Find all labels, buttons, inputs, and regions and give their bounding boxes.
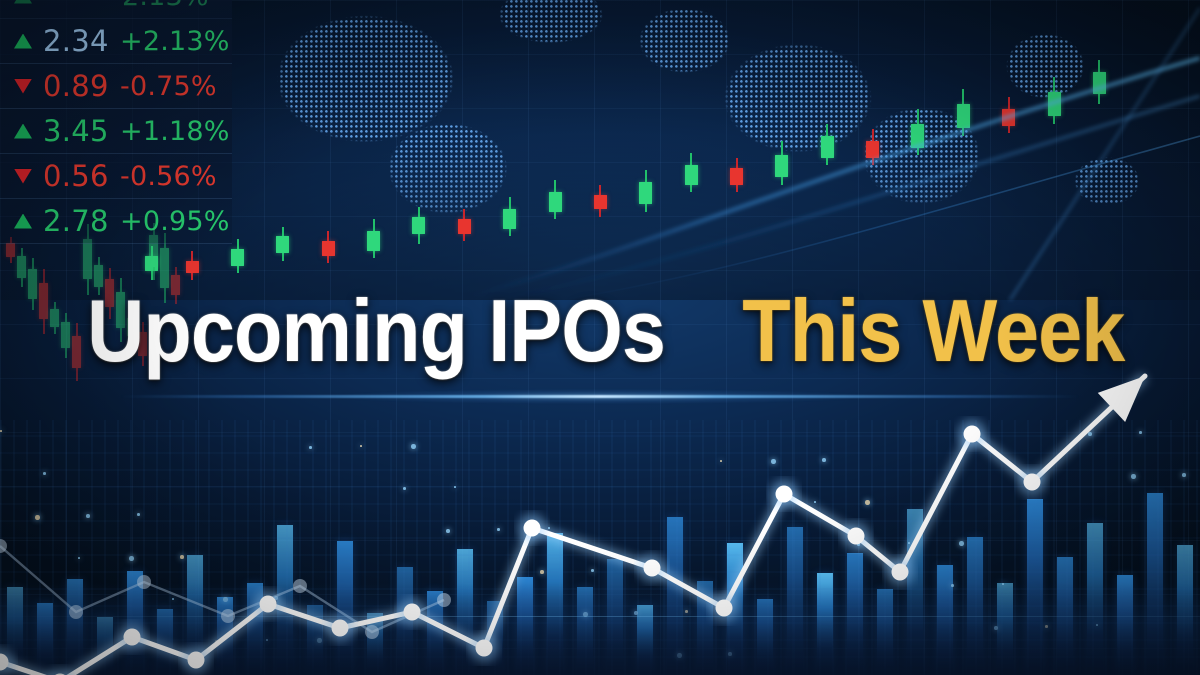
trend-node	[188, 652, 205, 669]
ticker-row: 3.45+1.18%	[0, 109, 232, 154]
trend-node	[964, 426, 981, 443]
ipo-banner: 2.13%2.34+2.13%0.89-0.75%3.45+1.18%0.56-…	[0, 0, 1200, 675]
ticker-percent: +2.13%	[120, 26, 230, 57]
trend-node	[124, 629, 141, 646]
secondary-line-node	[69, 605, 83, 619]
ticker-row: 0.89-0.75%	[0, 64, 232, 109]
headline-glow-divider	[120, 395, 1080, 398]
triangle-up-icon	[14, 34, 32, 49]
secondary-line-node	[293, 579, 307, 593]
trend-node	[716, 600, 733, 617]
ticker-value: 3.45	[43, 114, 109, 148]
trend-node	[332, 620, 349, 637]
trend-node	[644, 560, 661, 577]
trend-node	[776, 486, 793, 503]
triangle-down-icon	[14, 79, 32, 94]
triangle-up-icon	[14, 124, 32, 139]
trend-node	[848, 528, 865, 545]
triangle-up-icon	[14, 0, 32, 4]
ticker-percent: +1.18%	[120, 116, 230, 147]
ticker-value: 2.78	[43, 204, 109, 238]
headline-space	[698, 286, 719, 376]
ticker-percent: 2.13%	[122, 0, 209, 12]
ticker-percent: +0.95%	[120, 206, 230, 237]
trend-node	[476, 640, 493, 657]
secondary-line-node	[137, 575, 151, 589]
headline-white-part: Upcoming IPOs	[87, 286, 665, 376]
trend-node	[524, 520, 541, 537]
trend-node	[1024, 474, 1041, 491]
ticker-value: 0.89	[43, 69, 109, 103]
ticker-value: 0.56	[43, 159, 109, 193]
trend-node	[260, 596, 277, 613]
ticker-board: 2.13%2.34+2.13%0.89-0.75%3.45+1.18%0.56-…	[0, 0, 232, 244]
headline: Upcoming IPOs This Week	[0, 286, 1200, 376]
ticker-percent: -0.56%	[120, 161, 217, 192]
secondary-line-node	[437, 593, 451, 607]
triangle-down-icon	[14, 169, 32, 184]
secondary-line-node	[221, 609, 235, 623]
trend-node	[404, 604, 421, 621]
ticker-row: 2.34+2.13%	[0, 19, 232, 64]
ticker-row: 2.13%	[0, 0, 232, 19]
ticker-percent: -0.75%	[120, 71, 217, 102]
headline-gold-part: This Week	[742, 286, 1124, 376]
ticker-row: 0.56-0.56%	[0, 154, 232, 199]
triangle-up-icon	[14, 214, 32, 229]
ticker-row: 2.78+0.95%	[0, 199, 232, 244]
ticker-value: 2.34	[43, 24, 109, 58]
trend-node	[892, 564, 909, 581]
